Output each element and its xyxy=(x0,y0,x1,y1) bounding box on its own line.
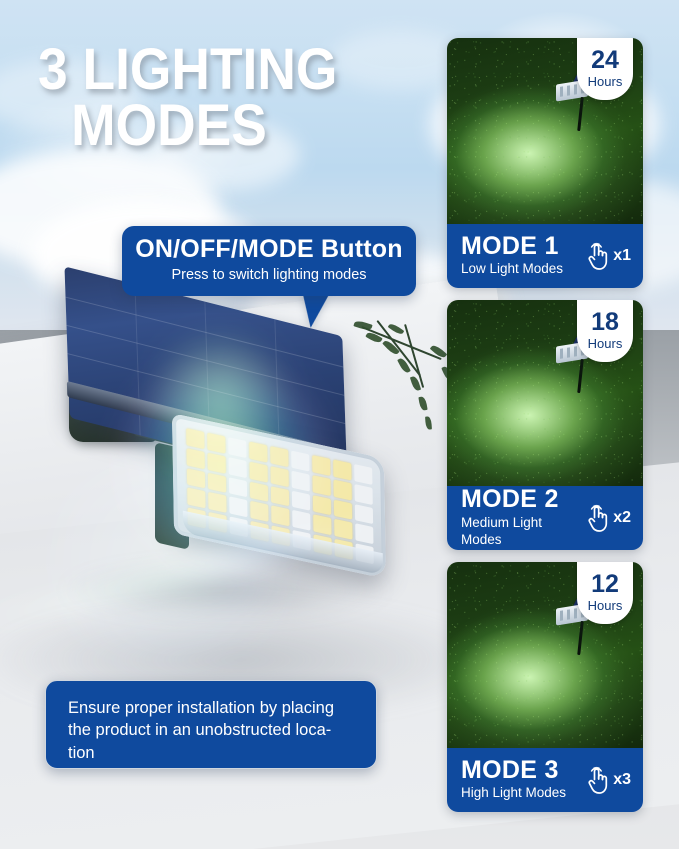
mode-3-title: MODE 3 xyxy=(461,758,566,784)
button-callout: ON/OFF/MODE Button Press to switch light… xyxy=(122,226,416,296)
mode-2-subtitle: Medium Light Modes xyxy=(461,515,585,549)
page-title: 3 LIGHTING MODES xyxy=(38,42,397,153)
mode-3-footer: MODE 3 High Light Modes x3 xyxy=(447,748,643,812)
hand-tap-icon xyxy=(585,765,611,795)
hours-value: 24 xyxy=(591,48,619,73)
hand-tap-icon xyxy=(585,503,611,533)
mode-1-press-count: x1 xyxy=(613,247,631,265)
button-callout-title: ON/OFF/MODE Button xyxy=(122,235,416,264)
mode-2-footer: MODE 2 Medium Light Modes x2 xyxy=(447,486,643,550)
mode-1-photo: 24 Hours xyxy=(447,38,643,224)
installation-note-text: Ensure proper installation by placing th… xyxy=(46,681,376,764)
hand-tap-icon xyxy=(585,241,611,271)
infographic-stage: 3 LIGHTING MODES ON/OFF/MODE Button Pres… xyxy=(0,0,679,849)
mode-card-3[interactable]: 12 Hours MODE 3 High Light Modes x3 xyxy=(447,562,643,812)
mode-1-hours-badge: 24 Hours xyxy=(577,38,633,100)
mode-1-title: MODE 1 xyxy=(461,234,563,260)
mode-2-title: MODE 2 xyxy=(461,487,585,513)
hours-unit: Hours xyxy=(588,74,623,90)
mode-2-press-count: x2 xyxy=(613,509,631,527)
mode-3-hours-badge: 12 Hours xyxy=(577,562,633,624)
lens-flare xyxy=(150,330,290,470)
hours-value: 12 xyxy=(591,572,619,597)
hours-unit: Hours xyxy=(588,598,623,614)
callout-tail xyxy=(298,292,328,329)
mode-3-photo: 12 Hours xyxy=(447,562,643,748)
mode-2-photo: 18 Hours xyxy=(447,300,643,486)
hours-unit: Hours xyxy=(588,336,623,352)
mode-1-subtitle: Low Light Modes xyxy=(461,261,563,278)
mode-2-hours-badge: 18 Hours xyxy=(577,300,633,362)
title-line-2: MODES xyxy=(38,98,397,154)
mode-card-2[interactable]: 18 Hours MODE 2 Medium Light Modes x2 xyxy=(447,300,643,550)
mode-3-press-count: x3 xyxy=(613,771,631,789)
mode-card-1[interactable]: 24 Hours MODE 1 Low Light Modes x1 xyxy=(447,38,643,288)
button-callout-subtitle: Press to switch lighting modes xyxy=(122,267,416,283)
hours-value: 18 xyxy=(591,310,619,335)
mode-1-footer: MODE 1 Low Light Modes x1 xyxy=(447,224,643,288)
installation-note-callout: Ensure proper installation by placing th… xyxy=(45,680,377,769)
mode-3-subtitle: High Light Modes xyxy=(461,785,566,802)
